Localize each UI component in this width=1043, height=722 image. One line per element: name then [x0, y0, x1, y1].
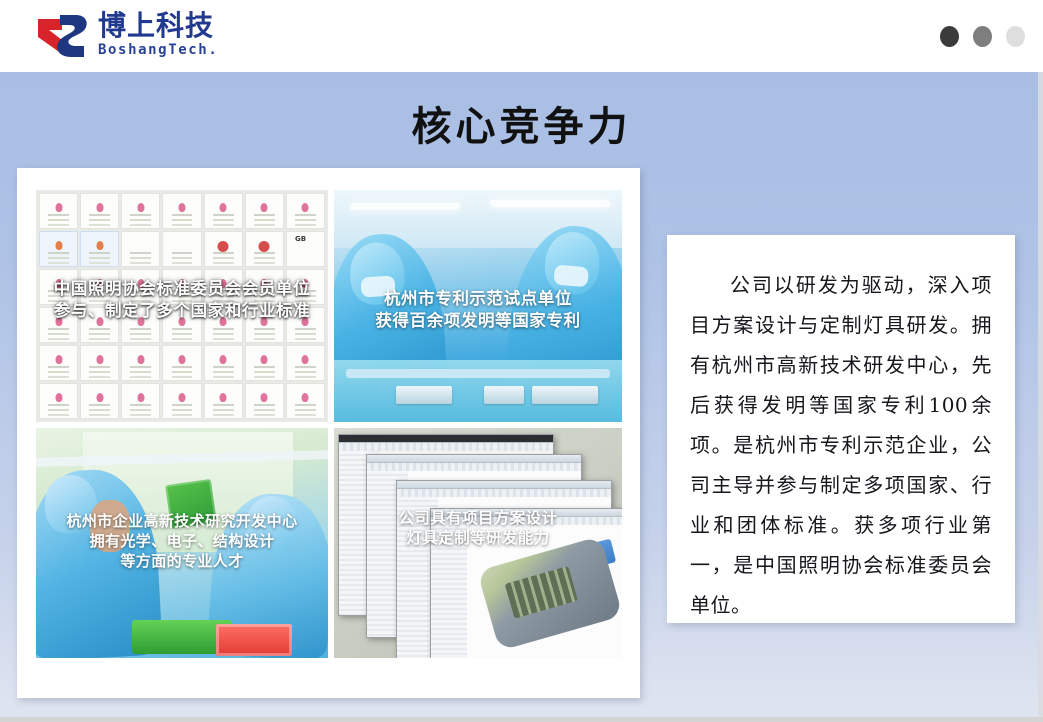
collage-caption-lab-team: 杭州市企业高新技术研究开发中心 拥有光学、电子、结构设计 等方面的专业人才 [36, 512, 328, 571]
product-box-1 [396, 386, 452, 404]
slide-dot-1[interactable] [940, 26, 959, 47]
description-text: 公司以研发为驱动，深入项目方案设计与定制灯具研发。拥有杭州市高新技术研发中心，先… [690, 265, 992, 625]
slide-dot-3[interactable] [1006, 26, 1025, 47]
logo-english-name: BoshangTech. [98, 42, 218, 60]
collage-caption-cleanroom: 杭州市专利示范试点单位 获得百余项发明等国家专利 [334, 288, 622, 332]
red-crate [216, 624, 292, 656]
collage-caption-cad-design: 公司具有项目方案设计 灯具定制等研发能力 [334, 508, 622, 549]
description-card: 公司以研发为驱动，深入项目方案设计与定制灯具研发。拥有杭州市高新技术研发中心，先… [667, 235, 1015, 623]
collage-tile-cleanroom[interactable]: 杭州市专利示范试点单位 获得百余项发明等国家专利 [334, 190, 622, 422]
boshang-logo-mark [36, 13, 90, 59]
collage-tile-certificates[interactable]: 中国照明协会标准委员会会员单位 参与、制定了多个国家和行业标准 [36, 190, 328, 422]
product-box-3 [532, 386, 598, 404]
logo-chinese-name: 博上科技 [98, 12, 218, 41]
logo-text-block: 博上科技 BoshangTech. [98, 12, 218, 59]
image-collage-card: 中国照明协会标准委员会会员单位 参与、制定了多个国家和行业标准 [17, 168, 640, 698]
presentation-slide: 博上科技 BoshangTech. 核心竞争力 [0, 0, 1043, 722]
bottom-edge-strip [0, 717, 1043, 722]
product-box-2 [484, 386, 524, 404]
slide-pagination-dots[interactable] [940, 26, 1025, 47]
slide-dot-2[interactable] [973, 26, 992, 47]
collage-tile-cad-design[interactable]: 公司具有项目方案设计 灯具定制等研发能力 [334, 428, 622, 658]
company-logo[interactable]: 博上科技 BoshangTech. [36, 10, 218, 62]
right-edge-strip [1038, 72, 1043, 717]
image-collage: 中国照明协会标准委员会会员单位 参与、制定了多个国家和行业标准 [36, 190, 622, 658]
slide-header: 博上科技 BoshangTech. [0, 0, 1043, 72]
page-title: 核心竞争力 [0, 94, 1043, 152]
collage-tile-lab-team[interactable]: 杭州市企业高新技术研究开发中心 拥有光学、电子、结构设计 等方面的专业人才 [36, 428, 328, 658]
cleanroom-rail [346, 369, 611, 378]
collage-caption-certificates: 中国照明协会标准委员会会员单位 参与、制定了多个国家和行业标准 [36, 278, 328, 322]
